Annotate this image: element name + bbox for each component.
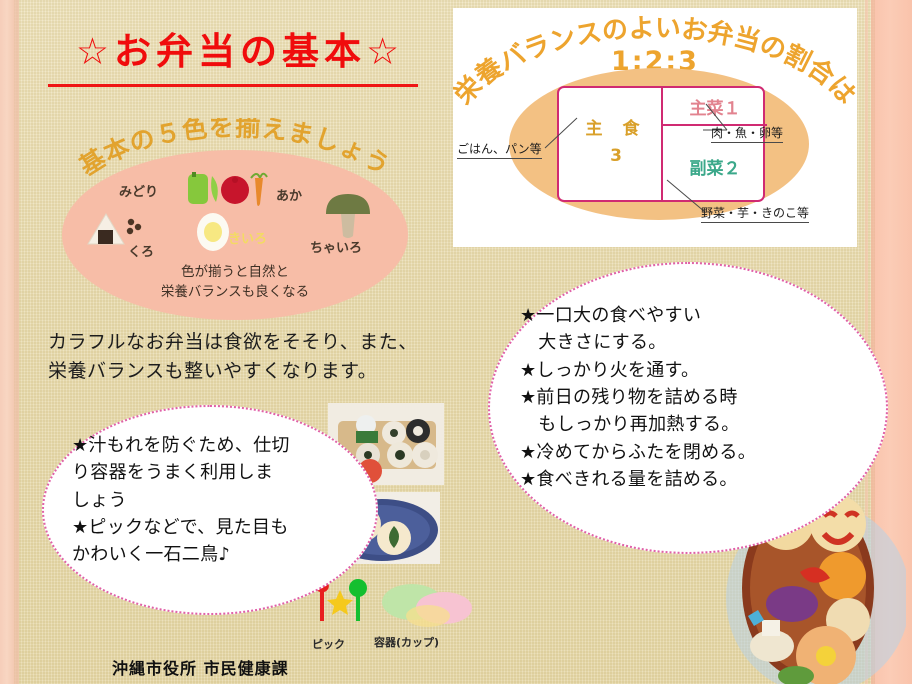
swatch-label-kuro: くろ (128, 241, 154, 260)
cup-icons (378, 578, 474, 630)
tips-bubble-right-text: ★一口大の食べやすい 大きさにする。 ★しっかり火を通す。 ★前日の残り物を詰め… (520, 302, 865, 494)
mini-label-cup: 容器(カップ) (374, 634, 439, 650)
mushroom-icon (320, 190, 376, 240)
annotation-main: 肉・魚・卵等 (711, 124, 783, 143)
swatch-label-midori: みどり (119, 181, 158, 200)
swatch-label-aka: あか (276, 185, 302, 204)
intro-paragraph: カラフルなお弁当は食欲をそそり、また、 栄養バランスも整いやすくなります。 (48, 328, 458, 387)
left-page-border (0, 0, 14, 684)
tomato-carrot-icon (218, 164, 276, 210)
annotation-staple: ごはん、パン等 (457, 140, 542, 159)
footer-credit: 沖縄市役所 市民健康課 (112, 655, 289, 679)
page-title: ☆お弁当の基本☆ (40, 33, 440, 72)
swatch-label-kiiro: きいろ (228, 228, 267, 247)
mini-label-pick: ピック (312, 636, 345, 652)
swatch-label-chairo: ちゃいろ (310, 237, 362, 256)
balance-diagram-card: 栄養バランスのよいお弁当の割合は 1:2:3 主 食 3 主菜１ 副菜２ ごはん… (453, 8, 857, 247)
left-page-border-inner (14, 0, 19, 684)
poster-canvas: ☆お弁当の基本☆ 基本の５色を揃えましょう みどり あか くろ きいろ (0, 0, 912, 684)
annotation-side: 野菜・芋・きのこ等 (701, 204, 809, 223)
title-underline (48, 84, 418, 87)
five-colors-note: 色が揃うと自然と 栄養バランスも良くなる (62, 262, 408, 301)
tips-bubble-left-text: ★汁もれを防ぐため、仕切 り容器をうまく利用しま しょう ★ピックなどで、見た目… (72, 432, 357, 569)
